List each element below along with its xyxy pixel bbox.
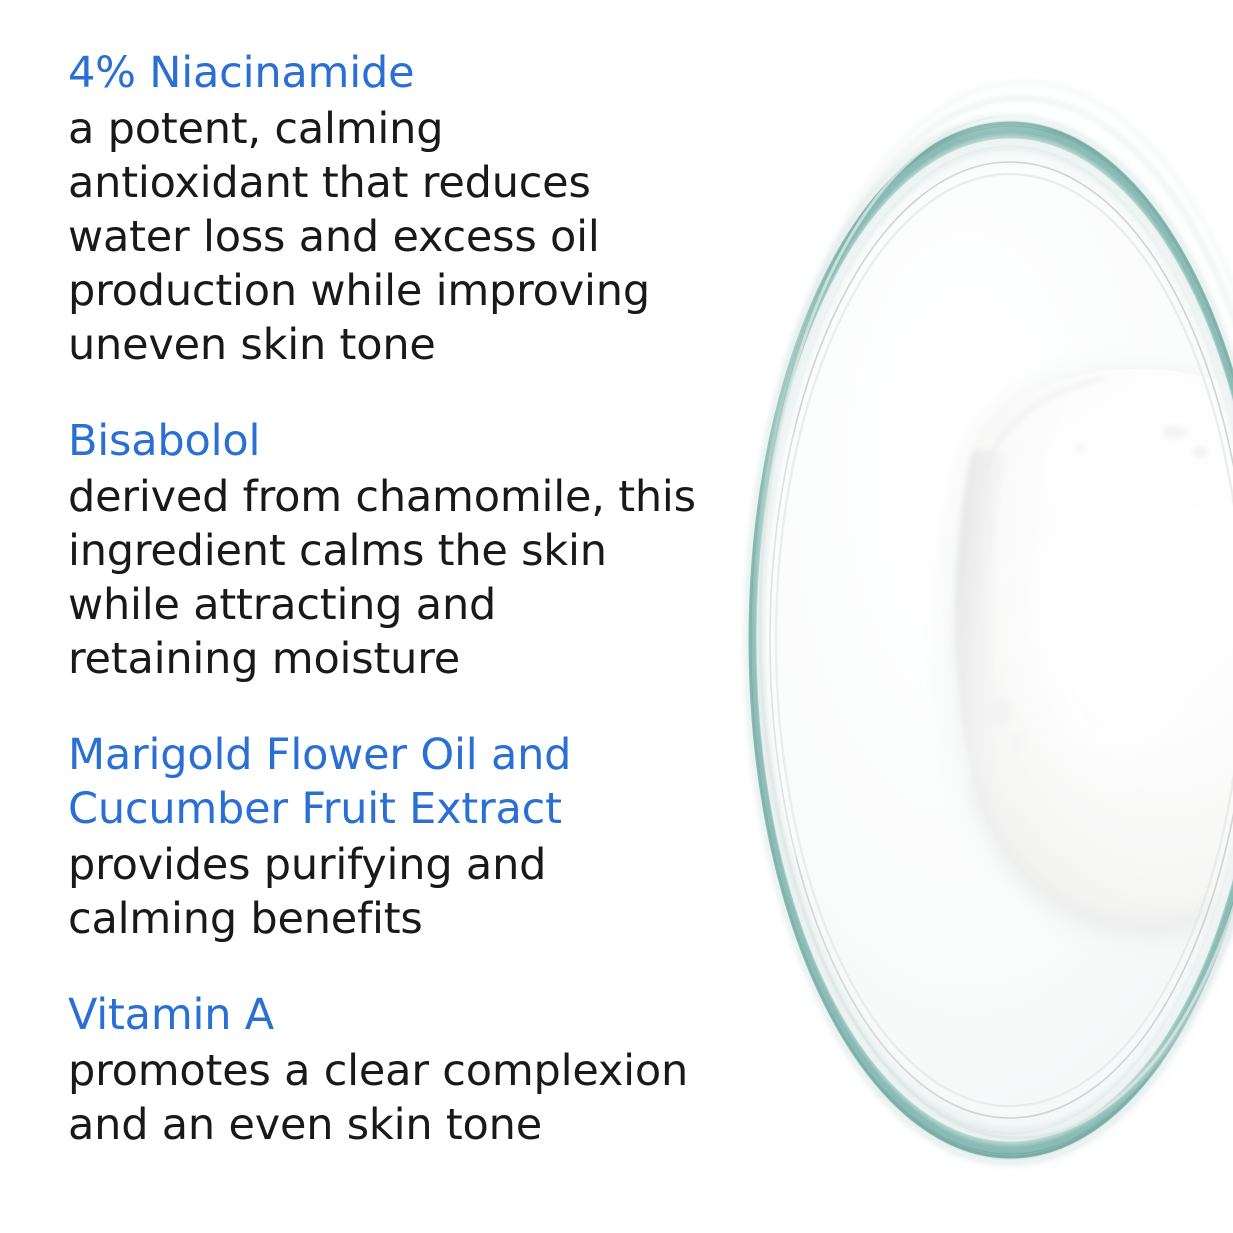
- ingredient-block-niacinamide: 4% Niacinamide a potent, calming antioxi…: [68, 46, 728, 372]
- ingredient-description-bisabolol: derived from chamomile, this ingredient …: [68, 470, 728, 686]
- ingredient-block-bisabolol: Bisabolol derived from chamomile, this i…: [68, 414, 728, 686]
- ingredient-list: 4% Niacinamide a potent, calming antioxi…: [68, 46, 728, 1152]
- product-ingredient-panel: 4% Niacinamide a potent, calming antioxi…: [0, 0, 1233, 1233]
- ingredient-name-marigold-cucumber: Marigold Flower Oil and Cucumber Fruit E…: [68, 728, 728, 836]
- ingredient-block-marigold-cucumber: Marigold Flower Oil and Cucumber Fruit E…: [68, 728, 728, 946]
- product-photo: [700, 0, 1233, 1233]
- ingredient-name-niacinamide: 4% Niacinamide: [68, 46, 728, 100]
- ingredient-description-vitamin-a: promotes a clear complexion and an even …: [68, 1044, 728, 1152]
- ingredient-description-niacinamide: a potent, calming antioxidant that reduc…: [68, 102, 728, 372]
- ingredient-block-vitamin-a: Vitamin A promotes a clear complexion an…: [68, 988, 728, 1152]
- ingredient-description-marigold-cucumber: provides purifying and calming benefits: [68, 838, 728, 946]
- ingredient-name-vitamin-a: Vitamin A: [68, 988, 728, 1042]
- petri-dish-illustration: [700, 0, 1233, 1233]
- ingredient-name-bisabolol: Bisabolol: [68, 414, 728, 468]
